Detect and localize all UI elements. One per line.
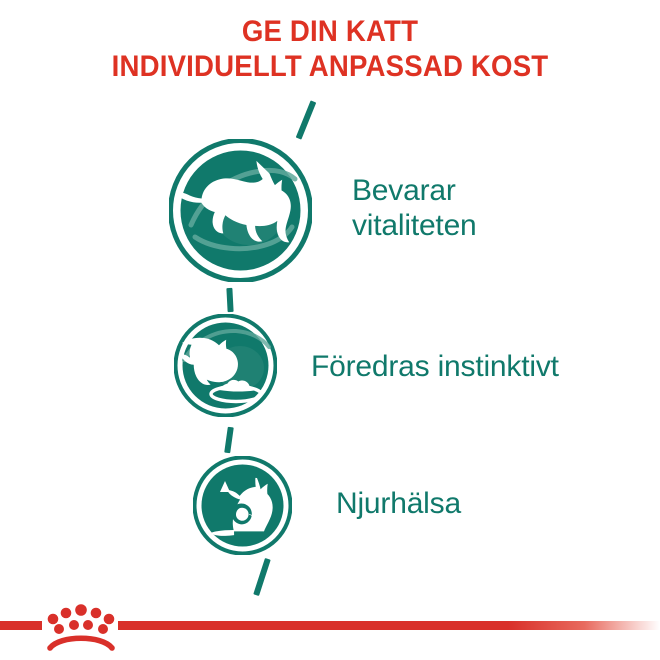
connector-dash-1-2 [226, 288, 233, 312]
footer-brand-bar [0, 600, 660, 660]
royal-canin-crown-icon [44, 600, 118, 654]
brand-rule-right [118, 621, 660, 630]
walking-cat-icon [169, 139, 312, 282]
headline-line-2: INDIVIDUELLT ANPASSAD KOST [26, 49, 633, 84]
connector-dash-2-3 [224, 427, 234, 454]
connector-dash-bottom [253, 558, 270, 596]
feature-label-vitality: Bevarar vitaliteten [352, 174, 642, 244]
page-title: GE DIN KATT INDIVIDUELLT ANPASSAD KOST [26, 14, 633, 85]
cat-kidney-health-icon [193, 456, 292, 555]
promo-graphic: GE DIN KATT INDIVIDUELLT ANPASSAD KOST B… [0, 0, 660, 660]
cat-eating-from-bowl-icon [174, 314, 277, 417]
headline-line-1: GE DIN KATT [26, 14, 633, 49]
brand-rule-left [0, 621, 42, 630]
feature-label-kidney: Njurhälsa [336, 487, 626, 522]
connector-dash-top [296, 100, 317, 139]
feature-label-instinct: Föredras instinktivt [311, 350, 656, 385]
